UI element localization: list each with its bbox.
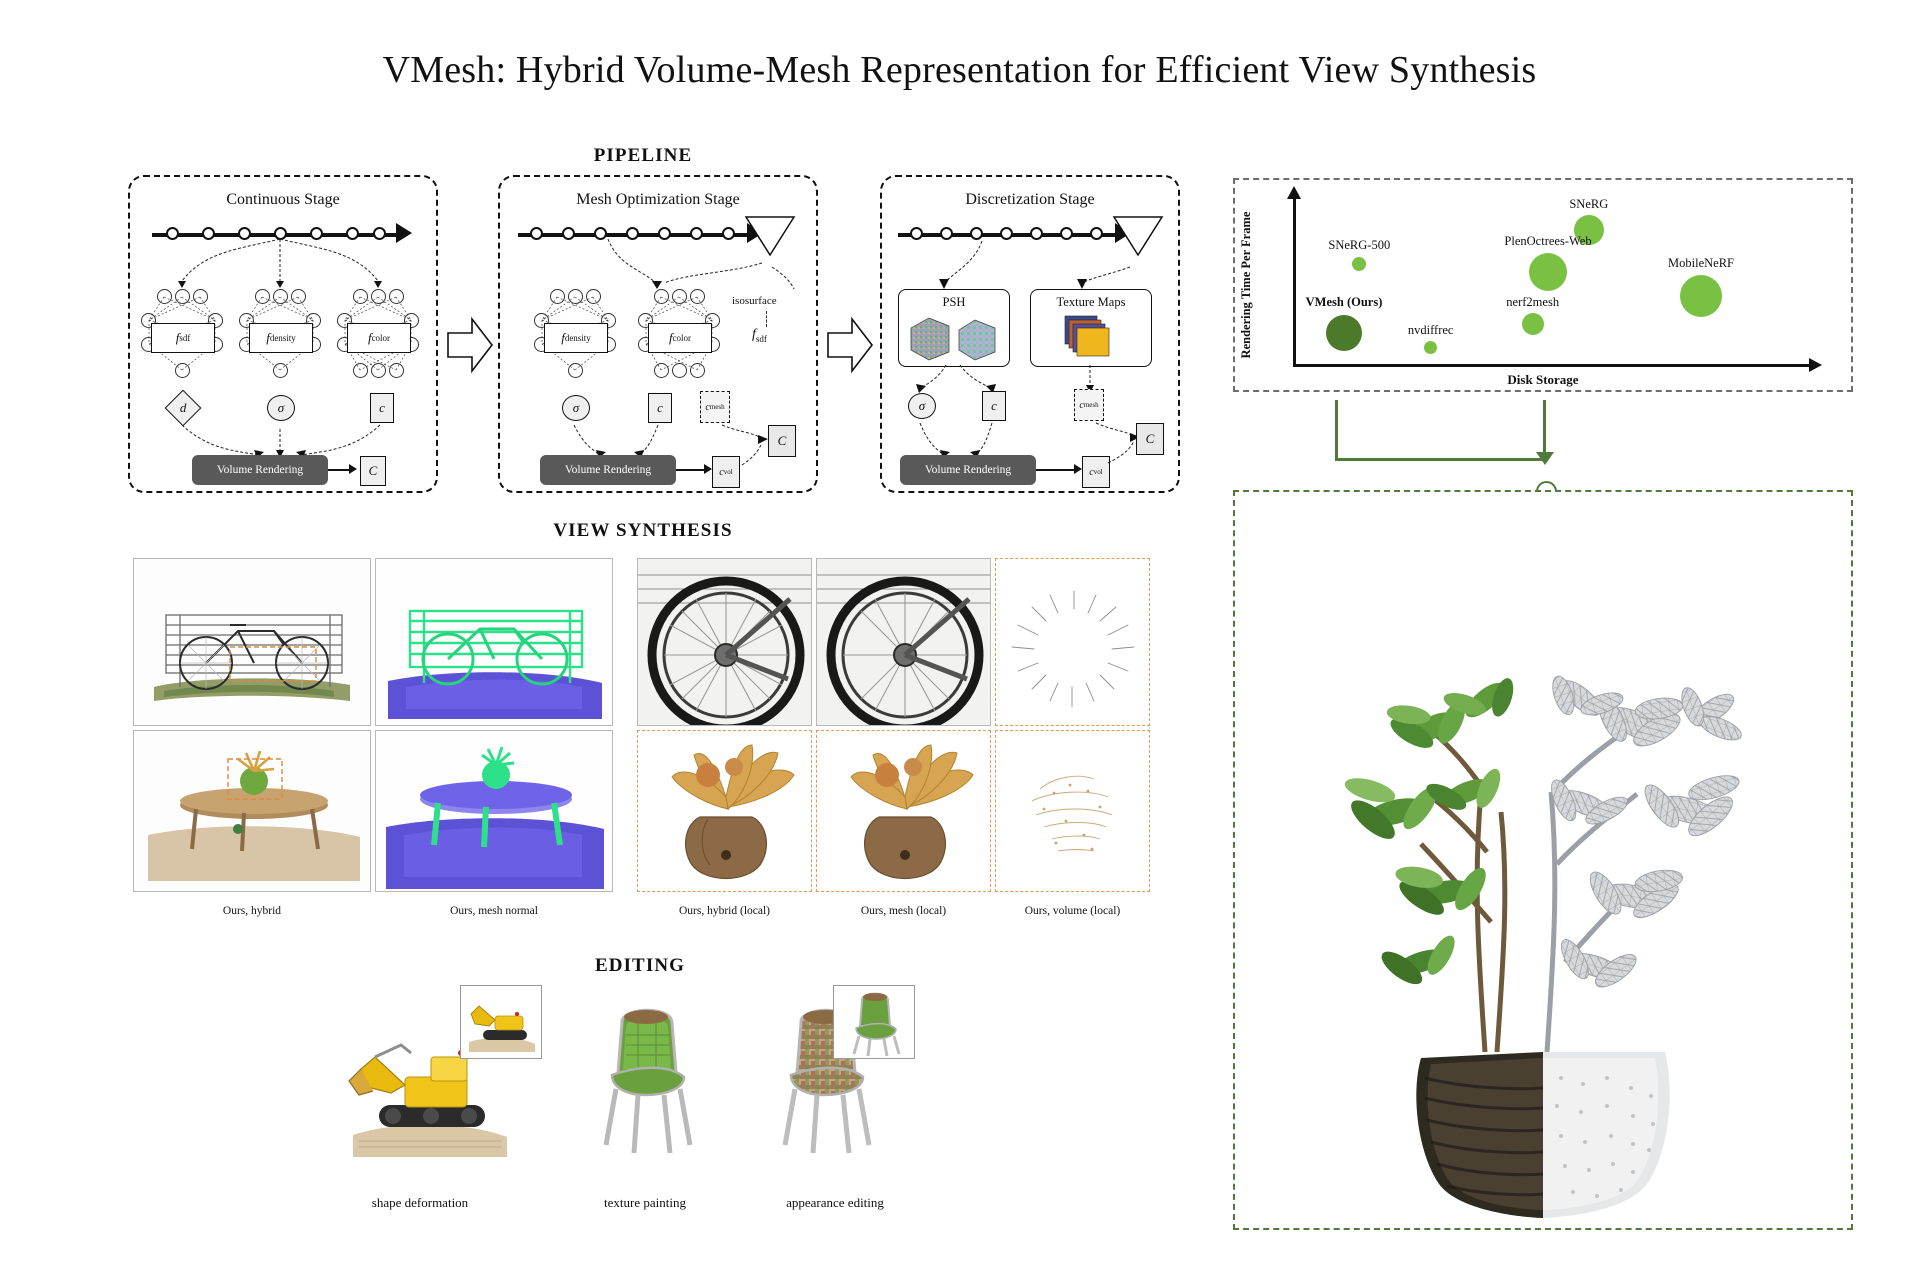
vs-image-table-mesh-normal bbox=[375, 730, 613, 892]
timeline-dot bbox=[1090, 227, 1103, 240]
isosurface-tick bbox=[766, 311, 768, 327]
psh-output-links bbox=[882, 365, 1182, 397]
branch-curves bbox=[882, 241, 1182, 293]
volume-rendering-block: Volume Rendering bbox=[192, 455, 328, 485]
branch-curves bbox=[130, 237, 440, 289]
timeline-dot bbox=[970, 227, 983, 240]
plot-inner: Rendering Time Per Frame Disk Storage SN… bbox=[1235, 180, 1851, 390]
vs-image-vase-hybrid-local bbox=[637, 730, 812, 892]
plot-point-nvdiffrec[interactable] bbox=[1424, 341, 1437, 354]
connector-line-vertical bbox=[1335, 400, 1338, 460]
mlp-block-fdensity: fdensity bbox=[532, 289, 618, 381]
plot-point-label: nerf2mesh bbox=[1506, 295, 1559, 310]
stage-title: Discretization Stage bbox=[882, 191, 1178, 209]
plot-point-snerg-500[interactable] bbox=[1352, 257, 1366, 271]
stage-title: Continuous Stage bbox=[130, 191, 436, 209]
editing-caption-0: shape deformation bbox=[320, 1195, 520, 1211]
psh-box: PSH bbox=[898, 289, 1010, 367]
mlp-block-fsdf: fsdf bbox=[139, 289, 225, 381]
x-axis-arrowhead bbox=[1809, 358, 1822, 372]
timeline-dot bbox=[910, 227, 923, 240]
psh-volume-icon bbox=[907, 314, 1001, 362]
arrow-line bbox=[1036, 469, 1076, 471]
vs-image-bike-mesh-normal bbox=[375, 558, 613, 726]
editing-caption-2: appearance editing bbox=[740, 1195, 930, 1211]
mlp-label: fdensity bbox=[249, 323, 313, 353]
vs-image-wheel-hybrid-local bbox=[637, 558, 812, 726]
editing-image-texture-painting bbox=[560, 995, 735, 1170]
mlp-label: fcolor bbox=[648, 323, 712, 353]
plot-point-label: nvdiffrec bbox=[1408, 323, 1454, 338]
final-color-C: C bbox=[768, 425, 796, 457]
arrowhead bbox=[349, 464, 357, 474]
plot-point-label: SNeRG bbox=[1569, 197, 1608, 212]
mlp-label: fcolor bbox=[347, 323, 411, 353]
volume-rendering-block: Volume Rendering bbox=[900, 455, 1036, 485]
mlp-label: fdensity bbox=[544, 323, 608, 353]
vs-image-wheel-volume-local bbox=[995, 558, 1150, 726]
pipeline-diagram: Continuous Stage bbox=[128, 175, 1158, 320]
editing-inset-appearance-editing bbox=[833, 985, 915, 1059]
y-axis bbox=[1293, 198, 1296, 366]
connector-arrowhead bbox=[1536, 452, 1554, 465]
editing-inset-shape-deformation bbox=[460, 985, 542, 1059]
hero-plant-comparison bbox=[1233, 490, 1853, 1230]
psh-title: PSH bbox=[899, 295, 1009, 310]
y-axis-label: Rendering Time Per Frame bbox=[1239, 210, 1254, 360]
mlp-block-fcolor: fcolor bbox=[636, 289, 722, 381]
texture-maps-title: Texture Maps bbox=[1031, 295, 1151, 310]
isosurface-fn-label: fsdf bbox=[752, 327, 767, 344]
vs-caption-0: Ours, hybrid bbox=[133, 905, 371, 917]
final-color-C: C bbox=[1136, 423, 1164, 455]
plot-point-label: MobileNeRF bbox=[1668, 256, 1734, 271]
timeline-dot bbox=[940, 227, 953, 240]
plot-point-vmesh-ours[interactable] bbox=[1326, 315, 1362, 351]
vs-image-table-hybrid bbox=[133, 730, 371, 892]
comparison-scatter-plot: Rendering Time Per Frame Disk Storage SN… bbox=[1233, 178, 1853, 392]
plot-point-nerf2mesh[interactable] bbox=[1522, 313, 1544, 335]
mlp-block-fcolor: fcolor bbox=[335, 289, 421, 381]
vs-caption-4: Ours, volume (local) bbox=[995, 905, 1150, 917]
plot-point-label: PlenOctrees-Web bbox=[1504, 234, 1591, 249]
volume-rendering-block: Volume Rendering bbox=[540, 455, 676, 485]
texture-maps-box: Texture Maps bbox=[1030, 289, 1152, 367]
section-heading-pipeline: PIPELINE bbox=[128, 145, 1158, 167]
arrow-line bbox=[676, 469, 706, 471]
render-links bbox=[130, 417, 440, 459]
section-heading-editing: EDITING bbox=[380, 955, 900, 977]
y-axis-arrowhead bbox=[1287, 186, 1301, 199]
mlp-label: fsdf bbox=[151, 323, 215, 353]
vs-caption-3: Ours, mesh (local) bbox=[816, 905, 991, 917]
timeline-dot bbox=[1030, 227, 1043, 240]
branch-curves bbox=[500, 237, 820, 293]
output-symbol-sigma: σ bbox=[908, 393, 936, 419]
texture-stack-icon bbox=[1061, 314, 1123, 360]
connector-line-vertical-2 bbox=[1543, 400, 1546, 460]
editing-caption-1: texture painting bbox=[555, 1195, 735, 1211]
arrow-line bbox=[328, 469, 350, 471]
section-heading-view-synthesis: VIEW SYNTHESIS bbox=[128, 520, 1158, 542]
mlp-block-fdensity: fdensity bbox=[237, 289, 323, 381]
pipeline-stage-continuous: Continuous Stage bbox=[128, 175, 438, 493]
hero-plant-svg bbox=[1235, 492, 1851, 1228]
vs-image-bike-hybrid bbox=[133, 558, 371, 726]
timeline-dot bbox=[1000, 227, 1013, 240]
plot-point-label: SNeRG-500 bbox=[1328, 238, 1390, 253]
stage-title: Mesh Optimization Stage bbox=[500, 191, 816, 209]
isosurface-label: isosurface bbox=[732, 295, 777, 307]
stage-arrow-1 bbox=[446, 315, 494, 375]
plot-point-plenoctrees-web[interactable] bbox=[1529, 253, 1567, 291]
vs-image-vase-volume-local bbox=[995, 730, 1150, 892]
plot-point-mobilenerf[interactable] bbox=[1680, 275, 1722, 317]
pipeline-stage-discretization: Discretization Stage PSH bbox=[880, 175, 1180, 493]
x-axis-label: Disk Storage bbox=[1235, 372, 1851, 388]
final-color-C: C bbox=[360, 456, 386, 486]
plot-point-label: VMesh (Ours) bbox=[1306, 295, 1383, 310]
vs-image-vase-mesh-local bbox=[816, 730, 991, 892]
timeline-dot bbox=[1060, 227, 1073, 240]
vs-caption-1: Ours, mesh normal bbox=[375, 905, 613, 917]
x-axis bbox=[1293, 364, 1813, 367]
page-title: VMesh: Hybrid Volume-Mesh Representation… bbox=[0, 48, 1919, 92]
stage-arrow-2 bbox=[826, 315, 874, 375]
vs-image-wheel-mesh-local bbox=[816, 558, 991, 726]
connector-line-horizontal bbox=[1335, 458, 1545, 461]
pipeline-stage-mesh-optimization: Mesh Optimization Stage isosurface fsdf bbox=[498, 175, 818, 493]
vs-caption-2: Ours, hybrid (local) bbox=[637, 905, 812, 917]
